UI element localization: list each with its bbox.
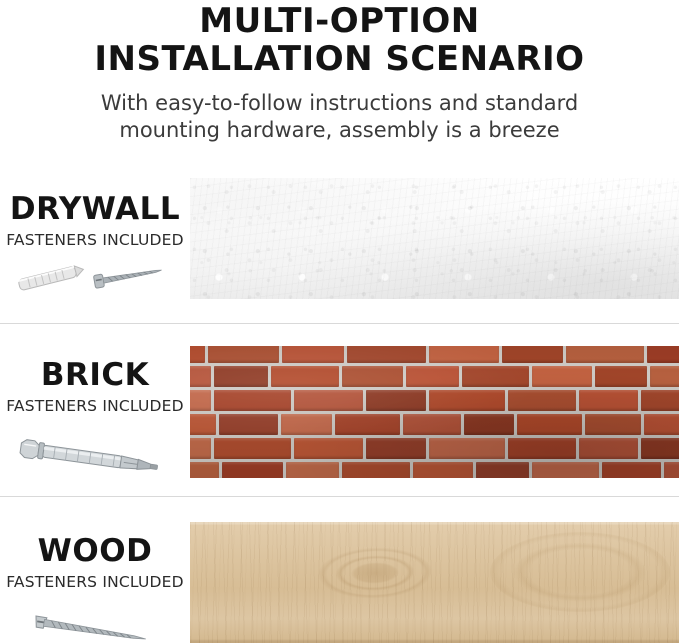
- surface-swatch-wood: [190, 522, 679, 643]
- subtitle-line-1: With easy-to-follow instructions and sta…: [0, 90, 679, 117]
- divider-2: [0, 496, 679, 497]
- brick-hardware-svg: [10, 426, 180, 470]
- brick-shading-overlay: [190, 346, 679, 478]
- brick-hardware-group: [0, 426, 190, 474]
- sleeve-anchor-bolt-icon: [19, 439, 158, 470]
- drywall-hardware-group: [0, 260, 190, 308]
- wood-label-column: WOOD FASTENERS INCLUDED: [0, 534, 190, 643]
- surface-swatch-drywall: [190, 178, 679, 299]
- section-wood: WOOD FASTENERS INCLUDED: [0, 522, 679, 643]
- screw-icon: [93, 264, 162, 289]
- section-drywall: DRYWALL FASTENERS INCLUDED: [0, 178, 679, 306]
- material-name-drywall: DRYWALL: [0, 192, 190, 226]
- section-brick: BRICK FASTENERS INCLUDED: [0, 346, 679, 478]
- drywall-label-column: DRYWALL FASTENERS INCLUDED: [0, 192, 190, 308]
- page-title-line-1: MULTI-OPTION: [0, 2, 679, 40]
- material-name-brick: BRICK: [0, 358, 190, 392]
- surface-swatch-brick: [190, 346, 679, 478]
- subtitle-line-2: mounting hardware, assembly is a breeze: [0, 117, 679, 144]
- fasteners-note-drywall: FASTENERS INCLUDED: [0, 231, 190, 250]
- wood-hardware-group: [0, 602, 190, 643]
- wood-hardware-svg: [10, 602, 180, 643]
- header: MULTI-OPTION INSTALLATION SCENARIO With …: [0, 0, 679, 144]
- fasteners-note-brick: FASTENERS INCLUDED: [0, 397, 190, 416]
- divider-1: [0, 323, 679, 324]
- drywall-hardware-svg: [10, 260, 180, 304]
- wall-anchor-icon: [18, 264, 85, 291]
- material-name-wood: WOOD: [0, 534, 190, 568]
- brick-label-column: BRICK FASTENERS INCLUDED: [0, 358, 190, 474]
- installation-scenario-graphic: MULTI-OPTION INSTALLATION SCENARIO With …: [0, 0, 679, 643]
- wood-edge-highlight: [190, 522, 679, 643]
- fasteners-note-wood: FASTENERS INCLUDED: [0, 573, 190, 592]
- wood-screw-icon: [34, 616, 146, 643]
- page-title-line-2: INSTALLATION SCENARIO: [0, 40, 679, 78]
- drywall-texture-overlay: [190, 178, 679, 299]
